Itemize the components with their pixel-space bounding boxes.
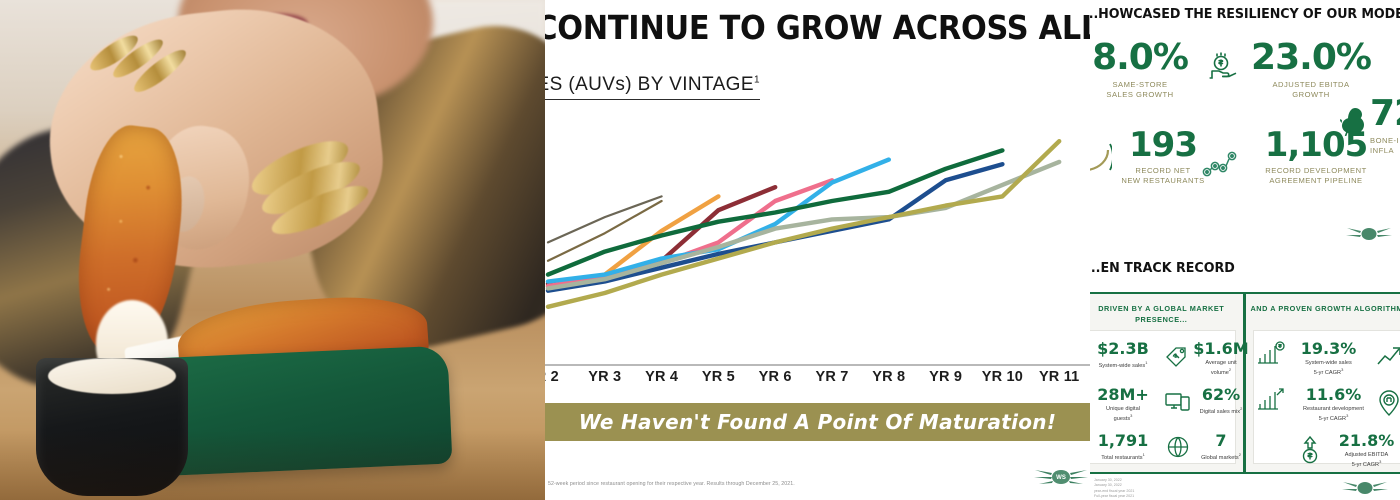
stat-adjusted-ebitda-growth: 23.0% ADJUSTED EBITDAGROWTH	[1236, 40, 1386, 101]
stat-adjusted-ebitda-cagr: 21.8% Adjusted EBITDA5-yr CAGR3	[1322, 433, 1400, 470]
stat-value: 72	[1370, 96, 1400, 132]
chart-x-tick-labels: YR 3YR 4YR 5YR 6YR 7YR 8YR 9YR 10YR 11YR…	[545, 369, 1090, 393]
photo-table-shadow	[0, 430, 545, 500]
stat-text: Unique digitalguests3	[1090, 406, 1162, 425]
slide-subtitle-text: ...OLUMES (AUVs) BY VINTAGE	[545, 74, 754, 95]
slide-subtitle: ...OLUMES (AUVs) BY VINTAGE1	[545, 74, 760, 100]
panel-heading: AND A PROVEN GROWTH ALGORITHM	[1246, 304, 1400, 315]
chart-x-axis	[545, 364, 1090, 366]
stat-same-store-sales: 8.0% SAME-STORESALES GROWTH	[1090, 40, 1200, 101]
auv-line-chart	[545, 118, 1090, 366]
stat-text: Total restaurants1	[1090, 452, 1162, 463]
slide-banner: We Haven't Found A Point Of Maturation!	[545, 403, 1090, 441]
subtitle-footnote-marker: 1	[754, 75, 760, 86]
stat-label: ADJUSTED EBITDAGROWTH	[1236, 80, 1386, 101]
panel-growth-algorithm: AND A PROVEN GROWTH ALGORITHM 19.3% Syst…	[1246, 294, 1400, 472]
coin-up-icon	[1298, 435, 1322, 465]
banner-text: We Haven't Found A Point Of Maturation!	[579, 410, 1057, 434]
slide-footnote: 52-week period since restaurant opening …	[548, 481, 795, 487]
stat-text: Adjusted EBITDA5-yr CAGR3	[1322, 452, 1400, 471]
stat-value: 11.6%	[1286, 387, 1382, 403]
track-record-panel: DRIVEN BY A GLOBAL MARKET PRESENCE... $2…	[1090, 292, 1400, 474]
panel-heading: DRIVEN BY A GLOBAL MARKET PRESENCE...	[1090, 304, 1243, 326]
resiliency-title: ...HOWCASED THE RESILIENCY OF OUR MODEL	[1090, 6, 1400, 22]
stat-total-restaurants: 1,791 Total restaurants1	[1090, 433, 1162, 462]
slide-resiliency: ...HOWCASED THE RESILIENCY OF OUR MODEL …	[1090, 0, 1400, 250]
x-tick-label: YR 6	[759, 369, 792, 385]
stat-value: 23.0%	[1236, 40, 1386, 76]
track-record-title: ...EN TRACK RECORD	[1090, 260, 1235, 276]
chart-line	[548, 196, 662, 242]
panel-inner: $2.3B System-wide sales1 $1.6M Average u…	[1090, 330, 1236, 464]
stat-text: System-wide sales5-yr CAGR3	[1286, 360, 1372, 379]
wingstop-wings-emblem	[1342, 476, 1388, 500]
stat-system-wide-sales: $2.3B System-wide sales1	[1090, 341, 1162, 370]
stat-text: System-wide sales1	[1090, 360, 1162, 371]
node-chart-icon	[1202, 148, 1238, 178]
panel-global-presence: DRIVEN BY A GLOBAL MARKET PRESENCE... $2…	[1090, 294, 1243, 472]
stat-value: 28M+	[1090, 387, 1162, 403]
hero-photo: WING·STOP	[0, 0, 545, 500]
x-tick-label: YR 3	[588, 369, 621, 385]
x-tick-label: YR 5	[702, 369, 735, 385]
x-tick-label: YR 4	[645, 369, 678, 385]
chart-plot-area	[545, 118, 1090, 366]
location-pin-icon	[1376, 389, 1400, 417]
x-tick-label: YR 10	[982, 369, 1023, 385]
stat-record-development-pipeline: 1,105 RECORD DEVELOPMENTAGREEMENT PIPELI…	[1236, 128, 1396, 187]
slide-title: ...AURANTS CONTINUE TO GROW ACROSS ALL V…	[545, 8, 1090, 47]
x-tick-label: YR 9	[929, 369, 962, 385]
wingstop-wings-emblem: WS	[1033, 462, 1089, 492]
slide-track-record: ...EN TRACK RECORD DRIVEN BY A GLOBAL MA…	[1090, 250, 1400, 500]
slide-collage: WING·STOP ...AURANTS CONTINUE TO GROW AC…	[0, 0, 1400, 500]
stat-system-wide-sales-cagr: 19.3% System-wide sales5-yr CAGR3	[1286, 341, 1372, 378]
x-tick-label: YR 7	[815, 369, 848, 385]
stat-unique-digital-guests: 28M+ Unique digitalguests3	[1090, 387, 1162, 424]
stat-value: 8.0%	[1090, 40, 1200, 76]
photo-ranch-sauce	[48, 358, 176, 394]
stat-text: Restaurant development5-yr CAGR3	[1286, 406, 1382, 425]
track-record-footnotes: January 30, 2022January 30, 2022year-end…	[1094, 478, 1134, 500]
stat-value: $2.3B	[1090, 341, 1162, 357]
stat-value: 21.8%	[1322, 433, 1400, 449]
stat-value: 19.3%	[1286, 341, 1372, 357]
x-tick-label: YR 11	[1039, 369, 1080, 385]
slide-auv-by-vintage: ...AURANTS CONTINUE TO GROW ACROSS ALL V…	[545, 0, 1090, 500]
x-tick-label-clipped: YR 2	[545, 369, 559, 385]
bar-chart-coin-icon	[1256, 341, 1286, 367]
x-tick-label: YR 8	[872, 369, 905, 385]
stat-value: 1,105	[1236, 128, 1396, 162]
panel-inner: 19.3% System-wide sales5-yr CAGR3 4... S…	[1253, 330, 1400, 464]
trend-arrow-icon	[1376, 345, 1400, 367]
stat-label: SAME-STORESALES GROWTH	[1090, 80, 1200, 101]
stat-restaurant-development-cagr: 11.6% Restaurant development5-yr CAGR3	[1286, 387, 1382, 424]
svg-text:WS: WS	[1056, 475, 1066, 481]
stat-label: RECORD DEVELOPMENTAGREEMENT PIPELINE	[1236, 166, 1396, 187]
wingstop-wings-emblem	[1346, 222, 1392, 246]
bar-chart-arrow-icon	[1256, 387, 1286, 413]
stat-value: 1,791	[1090, 433, 1162, 449]
